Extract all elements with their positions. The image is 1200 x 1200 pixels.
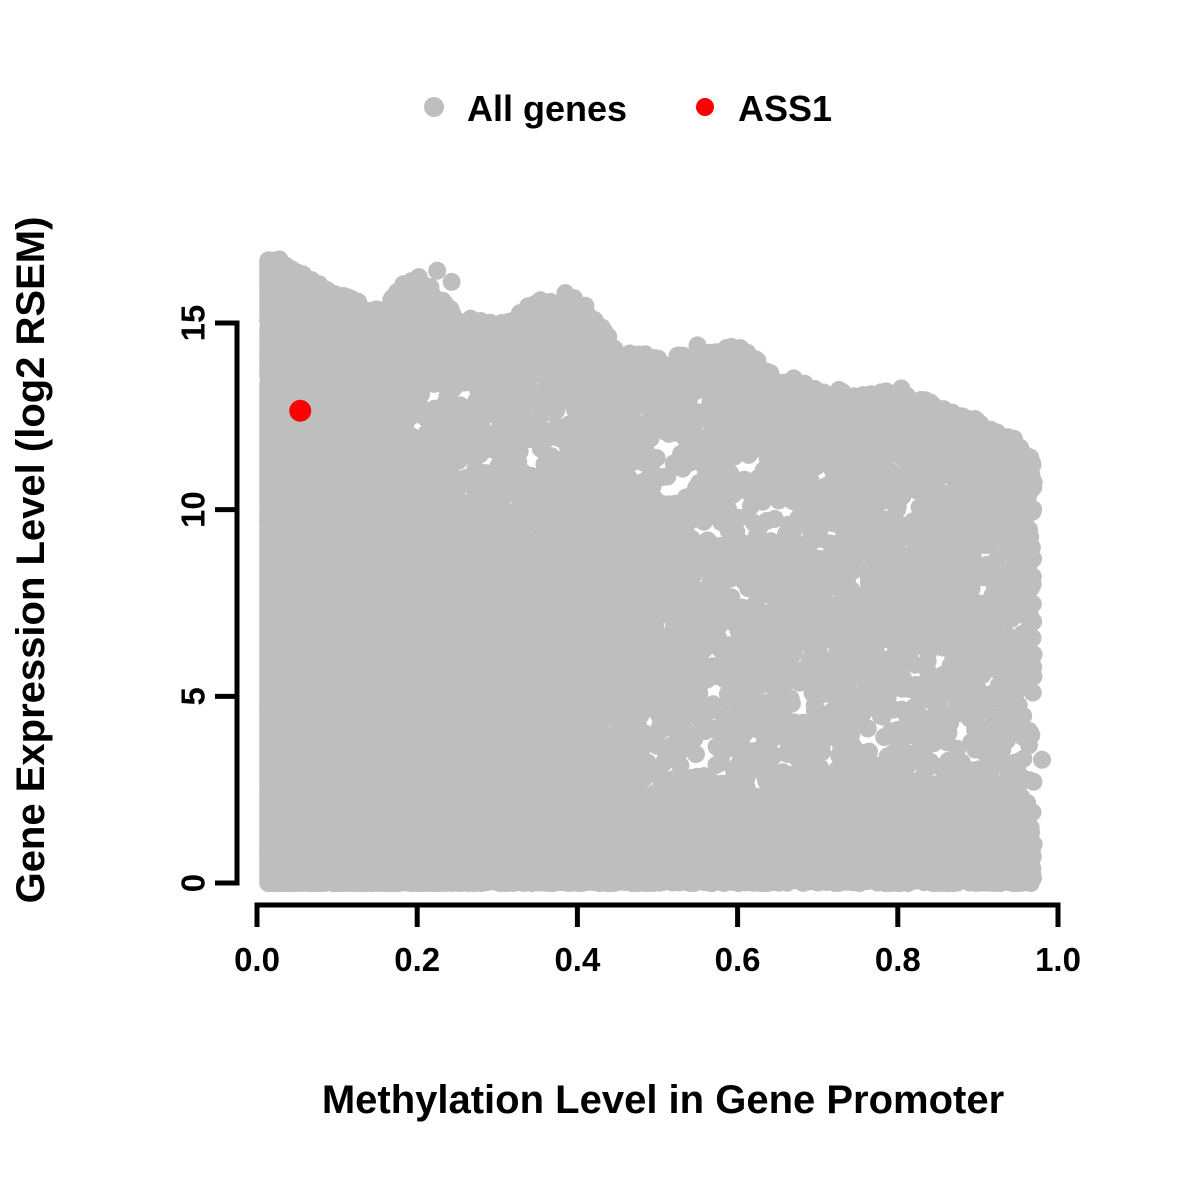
x-tick-label: 0.8 xyxy=(875,941,921,978)
plot-canvas: 0.00.20.40.60.81.0 051015 Methylation Le… xyxy=(0,0,1200,1200)
x-axis-line xyxy=(257,905,1058,927)
x-tick-label: 0.2 xyxy=(394,941,440,978)
y-tick-label: 10 xyxy=(175,491,212,528)
chart-legend: All genes ASS1 xyxy=(424,88,832,129)
all-genes-points xyxy=(259,251,1051,893)
x-tick-label: 0.0 xyxy=(234,941,280,978)
ass1-point xyxy=(289,400,311,422)
y-tick-label: 15 xyxy=(175,305,212,342)
y-axis-title: Gene Expression Level (log2 RSEM) xyxy=(9,217,53,904)
all-genes-point-cloud xyxy=(259,251,1051,893)
y-axis-tick-labels: 051015 xyxy=(175,305,212,893)
x-tick-label: 0.6 xyxy=(715,941,761,978)
x-axis-tick-labels: 0.00.20.40.60.81.0 xyxy=(234,941,1081,978)
x-axis-title: Methylation Level in Gene Promoter xyxy=(322,1078,1004,1122)
legend-label-ass1: ASS1 xyxy=(738,88,832,129)
legend-marker-ass1 xyxy=(696,98,714,116)
y-tick-label: 5 xyxy=(175,687,212,705)
legend-label-all-genes: All genes xyxy=(467,88,627,129)
ass1-highlight-point xyxy=(289,400,311,422)
y-tick-label: 0 xyxy=(175,874,212,892)
x-tick-label: 1.0 xyxy=(1035,941,1081,978)
x-tick-label: 0.4 xyxy=(554,941,601,978)
scatter-plot-figure: 0.00.20.40.60.81.0 051015 Methylation Le… xyxy=(0,0,1200,1200)
legend-marker-all-genes xyxy=(424,97,444,117)
y-axis-line xyxy=(215,323,237,883)
